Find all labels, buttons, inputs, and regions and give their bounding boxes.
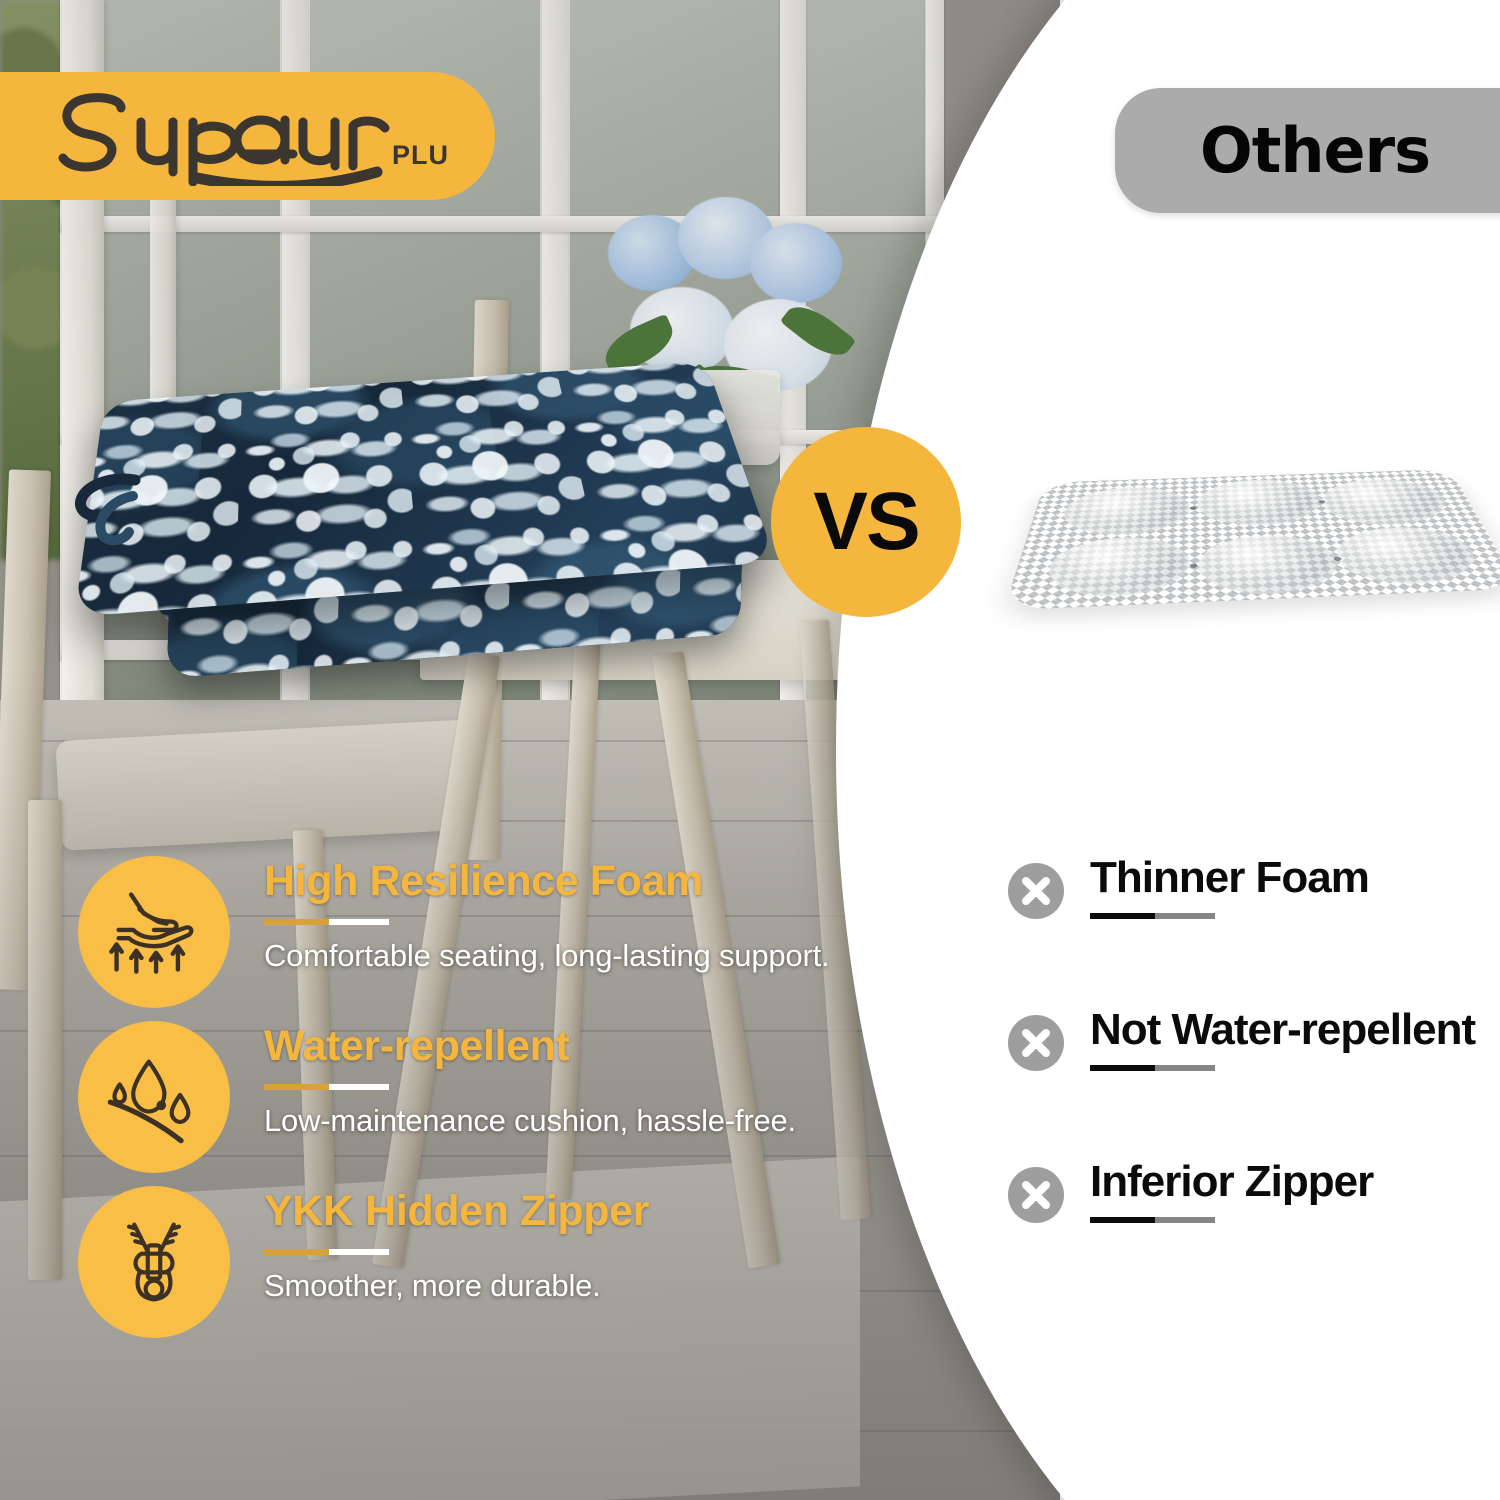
- con-divider: [1090, 913, 1215, 919]
- x-circle-icon: [1008, 1015, 1064, 1071]
- vs-label: VS: [813, 475, 918, 569]
- pro-divider: [264, 1084, 389, 1090]
- brand-logo-pill: PLUS Supdur: [0, 72, 495, 200]
- zipper-icon: [78, 1186, 230, 1338]
- con-title: Thinner Foam: [1090, 855, 1369, 901]
- con-divider: [1090, 1065, 1215, 1071]
- pro-title: YKK Hidden Zipper: [264, 1188, 824, 1235]
- con-item-thinner-foam: Thinner Foam: [1008, 855, 1498, 1007]
- pro-divider: [264, 919, 389, 925]
- x-circle-icon: [1008, 1167, 1064, 1223]
- infographic-canvas: PLUS Supdur Others VS: [0, 0, 1500, 1500]
- others-label: Others: [1200, 114, 1430, 187]
- con-title: Not Water-repellent: [1090, 1007, 1475, 1053]
- cushion-tie-strap: [75, 470, 145, 548]
- pro-divider: [264, 1249, 389, 1255]
- pro-title: Water-repellent: [264, 1023, 824, 1070]
- pro-subtitle: Comfortable seating, long-lasting suppor…: [264, 938, 824, 974]
- pro-item-high-resilience-foam: High Resilience Foam Comfortable seating…: [78, 852, 818, 1017]
- pro-title: High Resilience Foam: [264, 858, 824, 905]
- brand-logo-suffix: PLUS: [392, 140, 447, 170]
- others-header-pill: Others: [1115, 88, 1500, 213]
- cons-list: Thinner Foam Not Water-repellent: [1008, 855, 1498, 1311]
- con-divider: [1090, 1217, 1215, 1223]
- con-title: Inferior Zipper: [1090, 1159, 1373, 1205]
- x-circle-icon: [1008, 863, 1064, 919]
- pro-subtitle: Smoother, more durable.: [264, 1268, 824, 1304]
- pro-subtitle: Low-maintenance cushion, hassle-free.: [264, 1103, 824, 1139]
- brand-product-image: [75, 352, 765, 707]
- competitor-cushion-body: [1003, 469, 1500, 610]
- pro-item-ykk-hidden-zipper: YKK Hidden Zipper Smoother, more durable…: [78, 1182, 818, 1347]
- con-item-not-water-repellent: Not Water-repellent: [1008, 1007, 1498, 1159]
- pro-item-water-repellent: Water-repellent Low-maintenance cushion,…: [78, 1017, 818, 1182]
- con-item-inferior-zipper: Inferior Zipper: [1008, 1159, 1498, 1311]
- competitor-product-image: [1010, 395, 1500, 685]
- brand-logo-mark: PLUS Supdur: [47, 86, 447, 186]
- water-droplet-repel-icon: [78, 1021, 230, 1173]
- vs-badge: VS: [771, 427, 961, 617]
- pros-list: High Resilience Foam Comfortable seating…: [78, 852, 818, 1347]
- hand-support-arrows-icon: [78, 856, 230, 1008]
